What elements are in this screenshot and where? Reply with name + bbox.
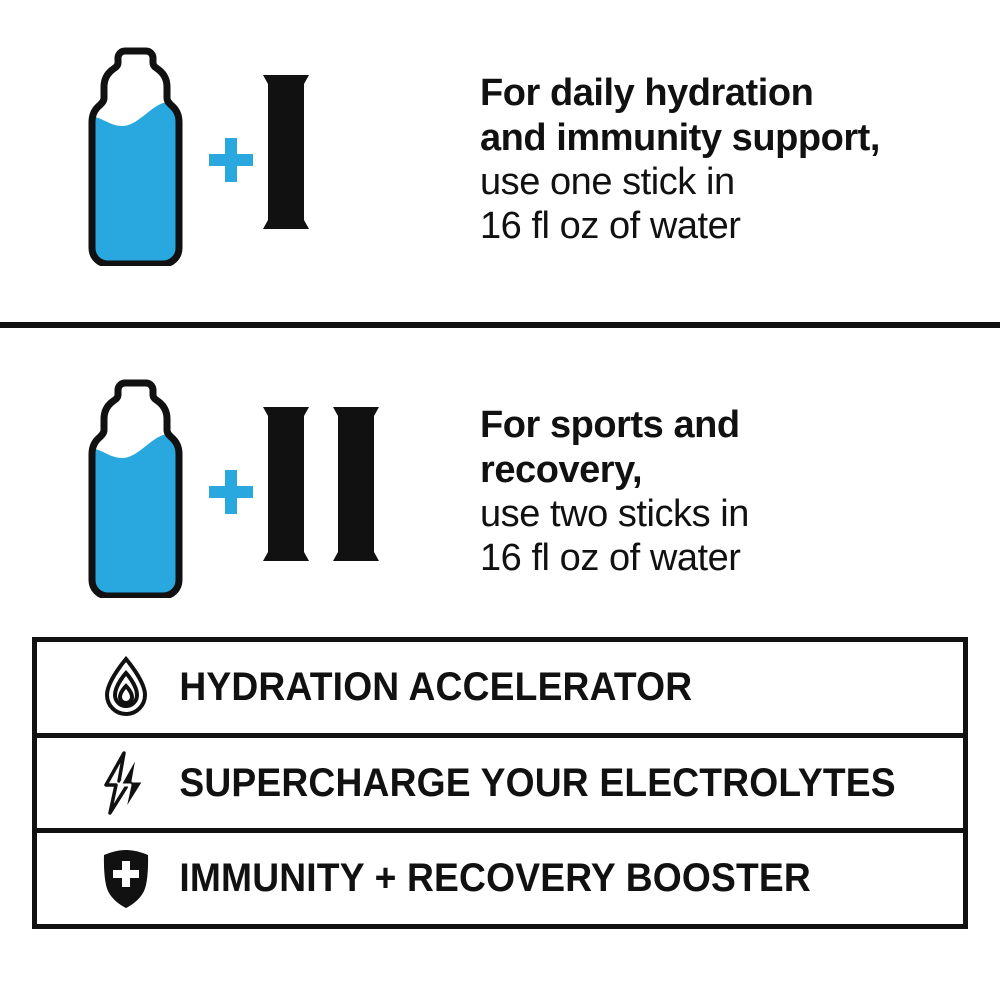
lightning-bolt-icon: [95, 749, 157, 817]
instruction-text-daily: For daily hydration and immunity support…: [430, 71, 1000, 249]
usage-panel-sports: For sports and recovery, use two sticks …: [0, 362, 1000, 622]
instruction-line: recovery,: [480, 448, 980, 492]
instruction-line: For daily hydration: [480, 71, 980, 115]
benefit-row-electrolytes: SUPERCHARGE YOUR ELECTROLYTES: [37, 738, 963, 834]
stick-pack-icon: [332, 405, 380, 563]
infographic-page: For daily hydration and immunity support…: [0, 0, 1000, 1000]
bottle-holder-sports: [88, 376, 184, 603]
instruction-line: 16 fl oz of water: [480, 204, 980, 248]
instruction-line: use two sticks in: [480, 492, 980, 536]
instruction-line: use one stick in: [480, 160, 980, 204]
stick-pack-icon: [262, 405, 310, 563]
usage-visual-daily: [0, 30, 430, 290]
benefit-label: IMMUNITY + RECOVERY BOOSTER: [157, 856, 811, 901]
benefits-list: HYDRATION ACCELERATOR SUPERCHARGE YOUR E…: [32, 637, 968, 929]
section-divider: [0, 322, 1000, 328]
benefit-label: SUPERCHARGE YOUR ELECTROLYTES: [157, 761, 896, 806]
stick-pack-icon: [262, 73, 310, 231]
bottle-holder-daily: [88, 44, 184, 271]
shield-cross-icon: [95, 845, 157, 913]
usage-visual-sports: [0, 362, 430, 622]
bottle-water-fill: [88, 431, 184, 598]
instruction-line: For sports and: [480, 403, 980, 447]
benefit-row-immunity: IMMUNITY + RECOVERY BOOSTER: [37, 833, 963, 924]
plus-icon: [205, 134, 257, 186]
plus-icon: [205, 466, 257, 518]
stick-pack-group-daily: [262, 73, 310, 231]
sport-water-bottle-icon: [88, 44, 184, 266]
usage-panel-daily: For daily hydration and immunity support…: [0, 30, 1000, 290]
sport-water-bottle-icon: [88, 376, 184, 598]
water-droplet-icon: [95, 653, 157, 721]
benefit-row-hydration: HYDRATION ACCELERATOR: [37, 642, 963, 738]
benefit-label: HYDRATION ACCELERATOR: [157, 665, 692, 710]
instruction-line: 16 fl oz of water: [480, 536, 980, 580]
instruction-text-sports: For sports and recovery, use two sticks …: [430, 403, 1000, 581]
bottle-water-fill: [88, 99, 184, 266]
instruction-line: and immunity support,: [480, 116, 980, 160]
stick-pack-group-sports: [262, 405, 380, 563]
